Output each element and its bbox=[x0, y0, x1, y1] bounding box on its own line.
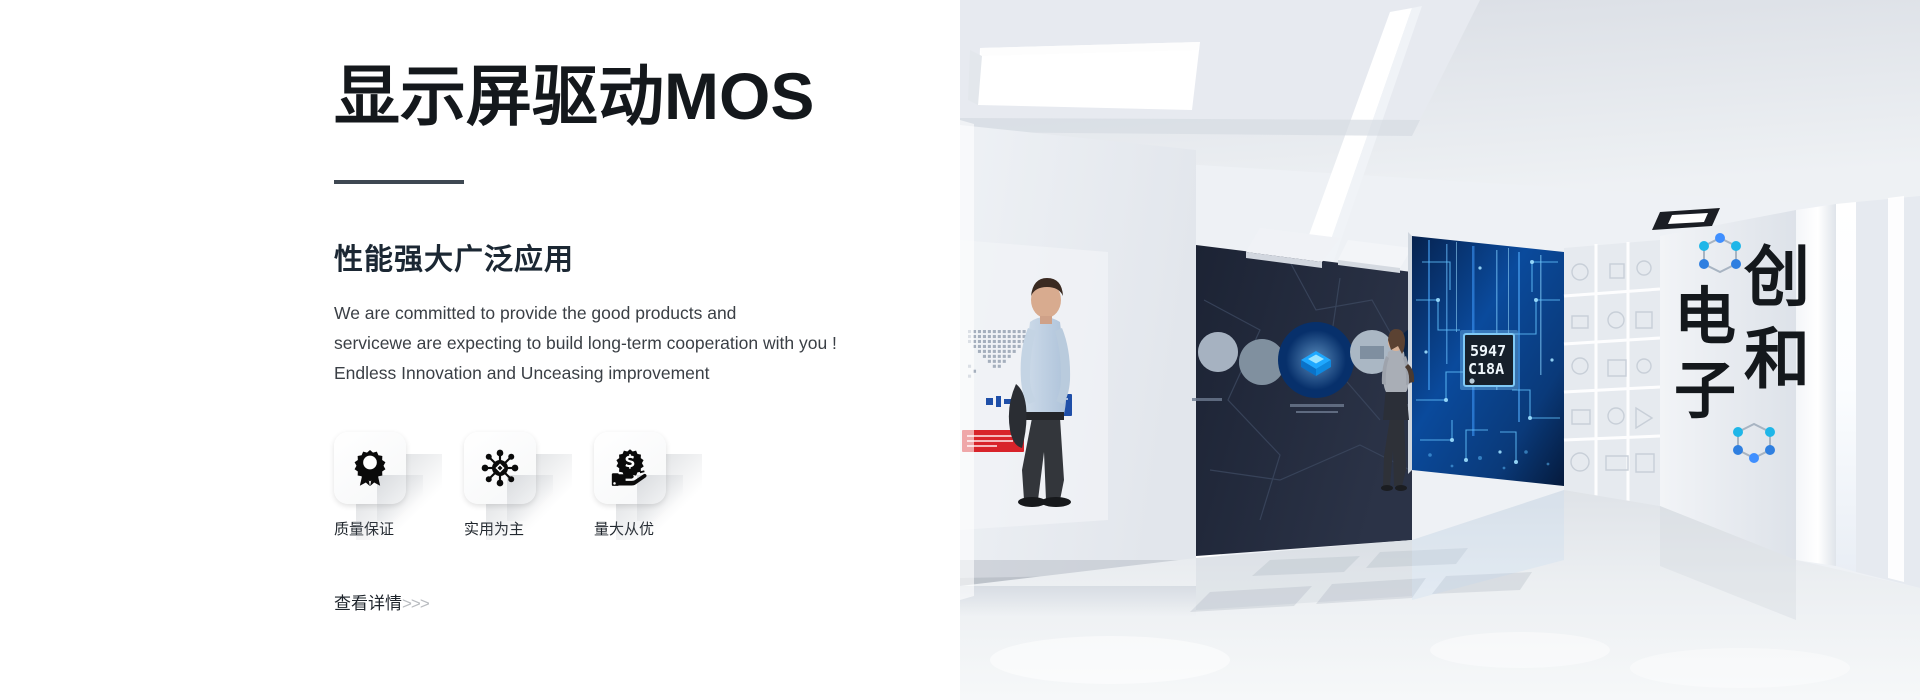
hero-banner: 5947 C18A bbox=[0, 0, 1920, 700]
hero-subtitle: 性能强大广泛应用 bbox=[334, 236, 934, 278]
hero-content: 显示屏驱动MOS 性能强大广泛应用 We are committed to pr… bbox=[334, 60, 934, 614]
feature-badge-wrap-2 bbox=[464, 432, 536, 504]
hero-description: We are committed to provide the good pro… bbox=[334, 298, 894, 388]
feature-badge-1[interactable] bbox=[334, 432, 406, 504]
hand-holding-coin-icon bbox=[610, 448, 650, 488]
svg-text:创: 创 bbox=[1744, 240, 1810, 314]
cta-label: 查看详情 bbox=[334, 594, 402, 613]
page-title: 显示屏驱动MOS bbox=[334, 60, 934, 134]
led-chip-line2: C18A bbox=[1468, 360, 1504, 378]
description-line-2: servicewe are expecting to build long-te… bbox=[334, 328, 894, 358]
award-ribbon-icon bbox=[350, 448, 390, 488]
network-chip-icon bbox=[480, 448, 520, 488]
view-details-link[interactable]: 查看详情>>> bbox=[334, 589, 429, 614]
feature-badge-wrap-3 bbox=[594, 432, 666, 504]
chevron-right-icon: >>> bbox=[402, 594, 429, 613]
description-line-1: We are committed to provide the good pro… bbox=[334, 298, 894, 328]
feature-item-quality[interactable]: 质量保证 bbox=[334, 432, 406, 539]
feature-item-practical[interactable]: 实用为主 bbox=[464, 432, 536, 539]
led-chip-line1: 5947 bbox=[1470, 342, 1506, 360]
feature-item-bulk[interactable]: 量大从优 bbox=[594, 432, 666, 539]
svg-text:子: 子 bbox=[1674, 357, 1736, 426]
showroom-photo: 5947 C18A bbox=[960, 0, 1920, 700]
feature-list: 质量保证 bbox=[334, 432, 934, 539]
svg-text:和: 和 bbox=[1744, 322, 1810, 396]
feature-badge-3[interactable] bbox=[594, 432, 666, 504]
svg-text:电: 电 bbox=[1674, 283, 1736, 352]
title-divider bbox=[334, 180, 464, 184]
feature-badge-wrap-1 bbox=[334, 432, 406, 504]
feature-badge-2[interactable] bbox=[464, 432, 536, 504]
description-line-3: Endless Innovation and Unceasing improve… bbox=[334, 358, 894, 388]
hero-text-panel: 显示屏驱动MOS 性能强大广泛应用 We are committed to pr… bbox=[0, 0, 960, 700]
